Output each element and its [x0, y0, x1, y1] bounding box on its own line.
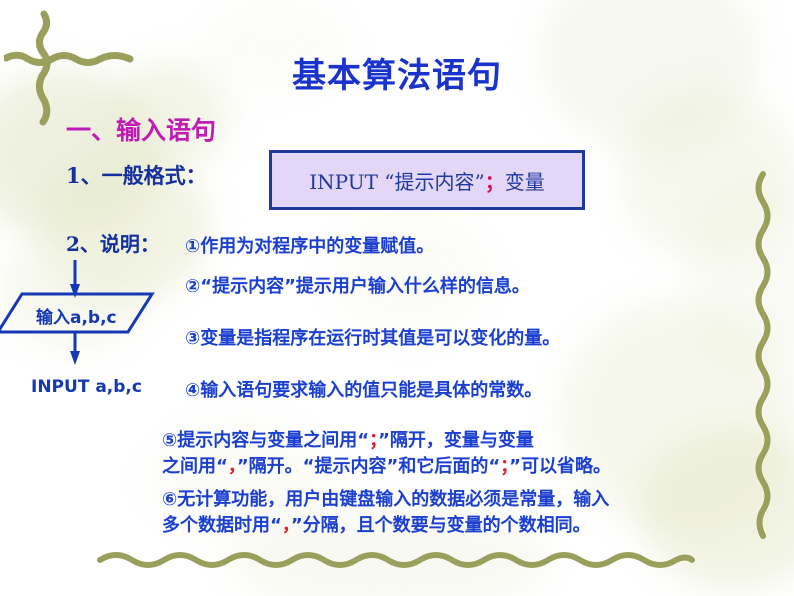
note-5-line-2: 之间用“，”隔开。“提示内容”和它后面的“；”可以省略。 — [162, 454, 611, 480]
note-5-line-2-b: ”隔开。“提示内容”和它后面的“ — [237, 456, 500, 477]
note-5-line-1: ⑤提示内容与变量之间用“；”隔开，变量与变量 — [162, 428, 611, 454]
note-6-line-2-a: 多个数据时用“ — [162, 515, 282, 536]
note-5-line-1-b: ”隔开，变量与变量 — [378, 430, 534, 451]
vine-right-ornament — [752, 170, 774, 540]
section-heading: 一、输入语句 — [66, 111, 216, 147]
input-syntax-text: INPUT “提示内容”；变量 — [309, 166, 545, 195]
slide-canvas: 基本算法语句 一、输入语句 1、一般格式： INPUT “提示内容”；变量 2、… — [0, 0, 794, 596]
note-item-4: ④输入语句要求输入的值只能是具体的常数。 — [185, 376, 542, 402]
note-5-separator-1: ； — [369, 430, 378, 451]
format-label: 1、一般格式： — [66, 160, 207, 190]
note-item-3: ③变量是指程序在运行时其值是可以变化的量。 — [185, 324, 560, 350]
note-item-2: ②“提示内容”提示用户输入什么样的信息。 — [185, 272, 530, 298]
slide-title: 基本算法语句 — [0, 48, 794, 97]
note-item-5: ⑤提示内容与变量之间用“；”隔开，变量与变量 之间用“，”隔开。“提示内容”和它… — [162, 428, 611, 480]
flowchart-code-label: INPUT a,b,c — [31, 377, 142, 397]
syntax-prefix: INPUT “提示内容” — [309, 170, 485, 194]
vine-bottom-ornament — [96, 548, 696, 572]
note-6-line-2: 多个数据时用“，”分隔，且个数要与变量的个数相同。 — [162, 513, 609, 539]
note-5-separator-3: ； — [500, 456, 509, 477]
note-item-1: ①作用为对程序中的变量赋值。 — [185, 232, 434, 258]
note-6-line-1: ⑥无计算功能，用户由键盘输入的数据必须是常量，输入 — [162, 487, 609, 513]
flowchart-parallelogram-label: 输入a,b,c — [36, 303, 117, 328]
note-item-6: ⑥无计算功能，用户由键盘输入的数据必须是常量，输入 多个数据时用“，”分隔，且个… — [162, 487, 609, 539]
note-6-separator-1: ， — [282, 515, 291, 536]
input-syntax-box: INPUT “提示内容”；变量 — [269, 150, 585, 210]
note-5-line-1-a: ⑤提示内容与变量之间用“ — [162, 430, 369, 451]
note-6-line-2-b: ”分隔，且个数要与变量的个数相同。 — [291, 515, 591, 536]
note-5-separator-2: ， — [228, 456, 237, 477]
note-5-line-2-a: 之间用“ — [162, 456, 228, 477]
note-5-line-2-c: ”可以省略。 — [509, 456, 611, 477]
syntax-suffix: 变量 — [505, 170, 545, 194]
syntax-separator: ； — [485, 170, 505, 194]
